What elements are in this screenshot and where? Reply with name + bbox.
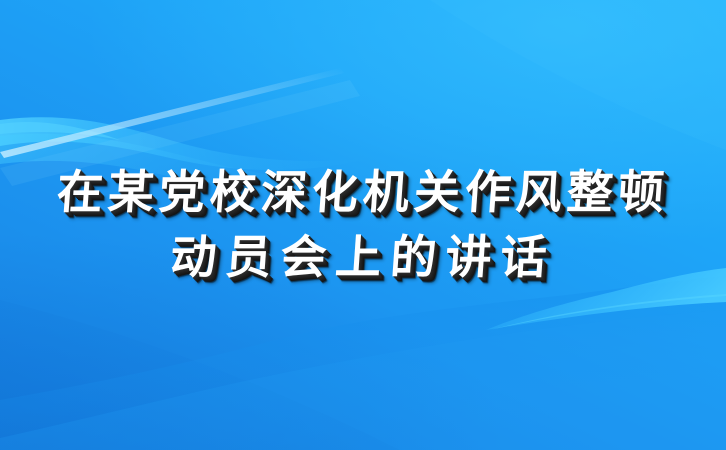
title-line-2: 动员会上的讲话 [0, 225, 726, 290]
top-right-glow-wedge [430, 0, 726, 150]
title-line-1: 在某党校深化机关作风整顿 [0, 160, 726, 225]
title-block: 在某党校深化机关作风整顿 动员会上的讲话 [0, 160, 726, 291]
document-cover-banner: 在某党校深化机关作风整顿 动员会上的讲话 [0, 0, 726, 450]
